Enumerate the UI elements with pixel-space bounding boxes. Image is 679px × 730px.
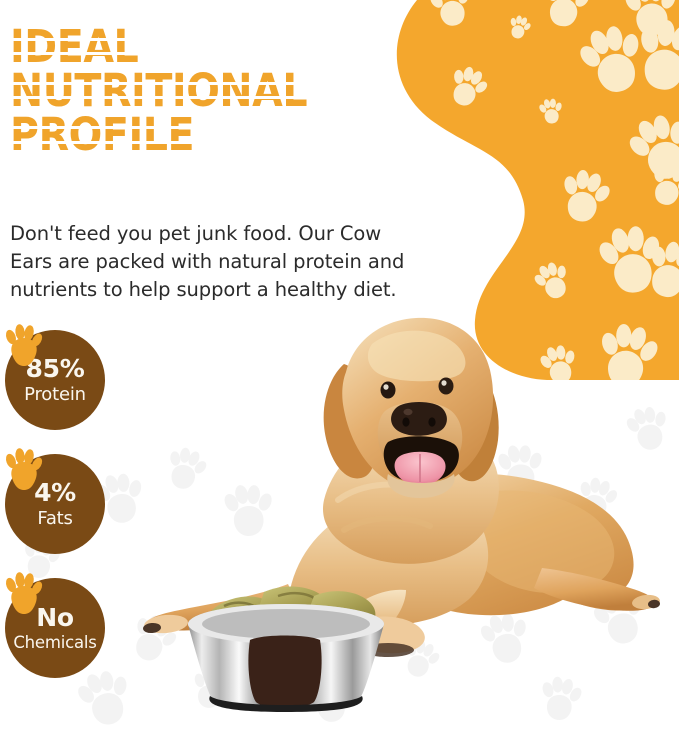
headline-line-1: IDEAL [10,25,362,69]
badge-label: Protein [24,386,86,404]
nutrition-badge-fats[interactable]: 4% Fats [0,449,105,554]
nutrition-badge-list: 85% Protein 4% Fats [0,325,120,697]
nutrition-badge-chemicals[interactable]: No Chemicals [0,573,105,678]
paw-print-icon [0,571,46,617]
headline-line-2: NUTRITIONAL [10,69,362,113]
body-copy: Don't feed you pet junk food. Our Cow Ea… [10,220,422,305]
page-title: IDEAL NUTRITIONAL PROFILE [10,25,410,157]
dog-with-bowl-illustration [138,300,679,730]
nutrition-badge-protein[interactable]: 85% Protein [0,325,105,430]
paw-print-icon [0,447,46,493]
paw-print-icon [0,323,46,369]
badge-label: Fats [37,510,72,528]
badge-label: Chemicals [13,635,96,652]
product-infographic-page: IDEAL NUTRITIONAL PROFILE Don't feed you… [0,0,679,730]
stainless-steel-dog-bowl [188,604,384,712]
headline-line-3: PROFILE [10,113,362,157]
product-photo [138,300,679,730]
